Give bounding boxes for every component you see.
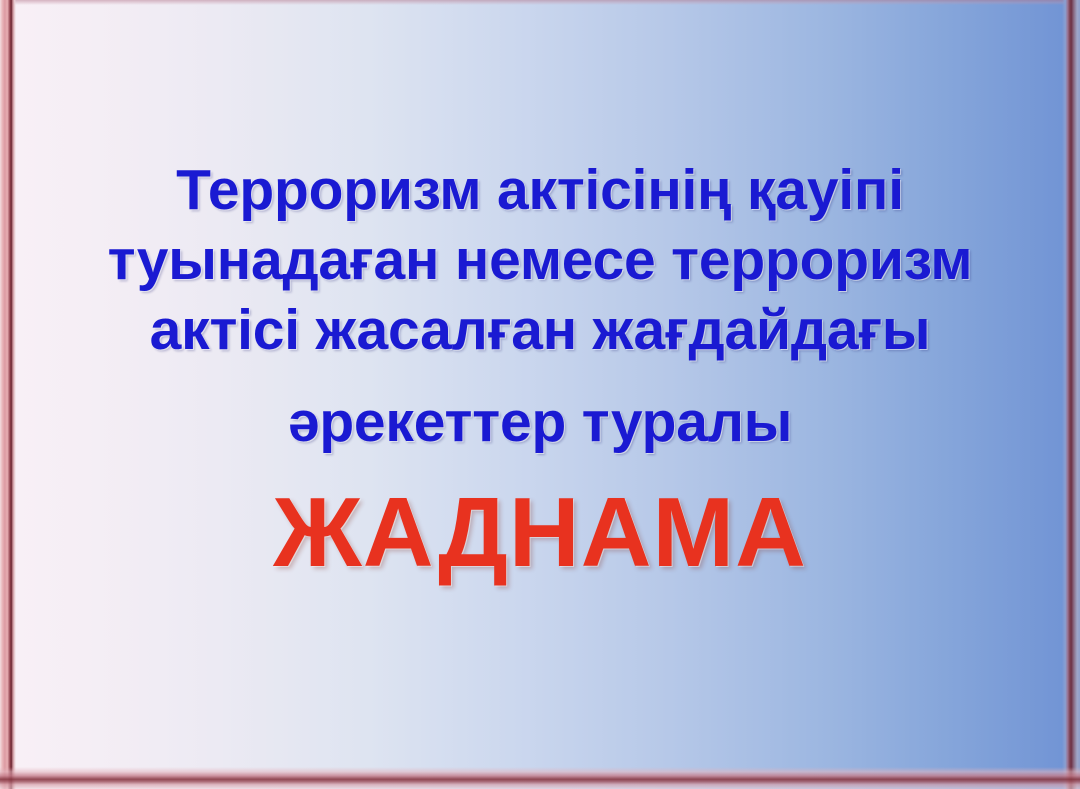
headline-line-2: туынадаған немесе терроризм (34, 225, 1046, 295)
slide-title: ЖАДНАМА (273, 477, 807, 587)
headline-block: Терроризм актісінің қауіпі туынадаған не… (34, 0, 1046, 457)
headline-line-1: Терроризм актісінің қауіпі (34, 155, 1046, 225)
headline-line-3: актісі жасалған жағдайдағы (34, 295, 1046, 365)
slide-canvas: Терроризм актісінің қауіпі туынадаған не… (0, 0, 1080, 789)
headline-line-4: әрекеттер туралы (34, 387, 1046, 457)
slide-content: Терроризм актісінің қауіпі туынадаған не… (0, 0, 1080, 789)
